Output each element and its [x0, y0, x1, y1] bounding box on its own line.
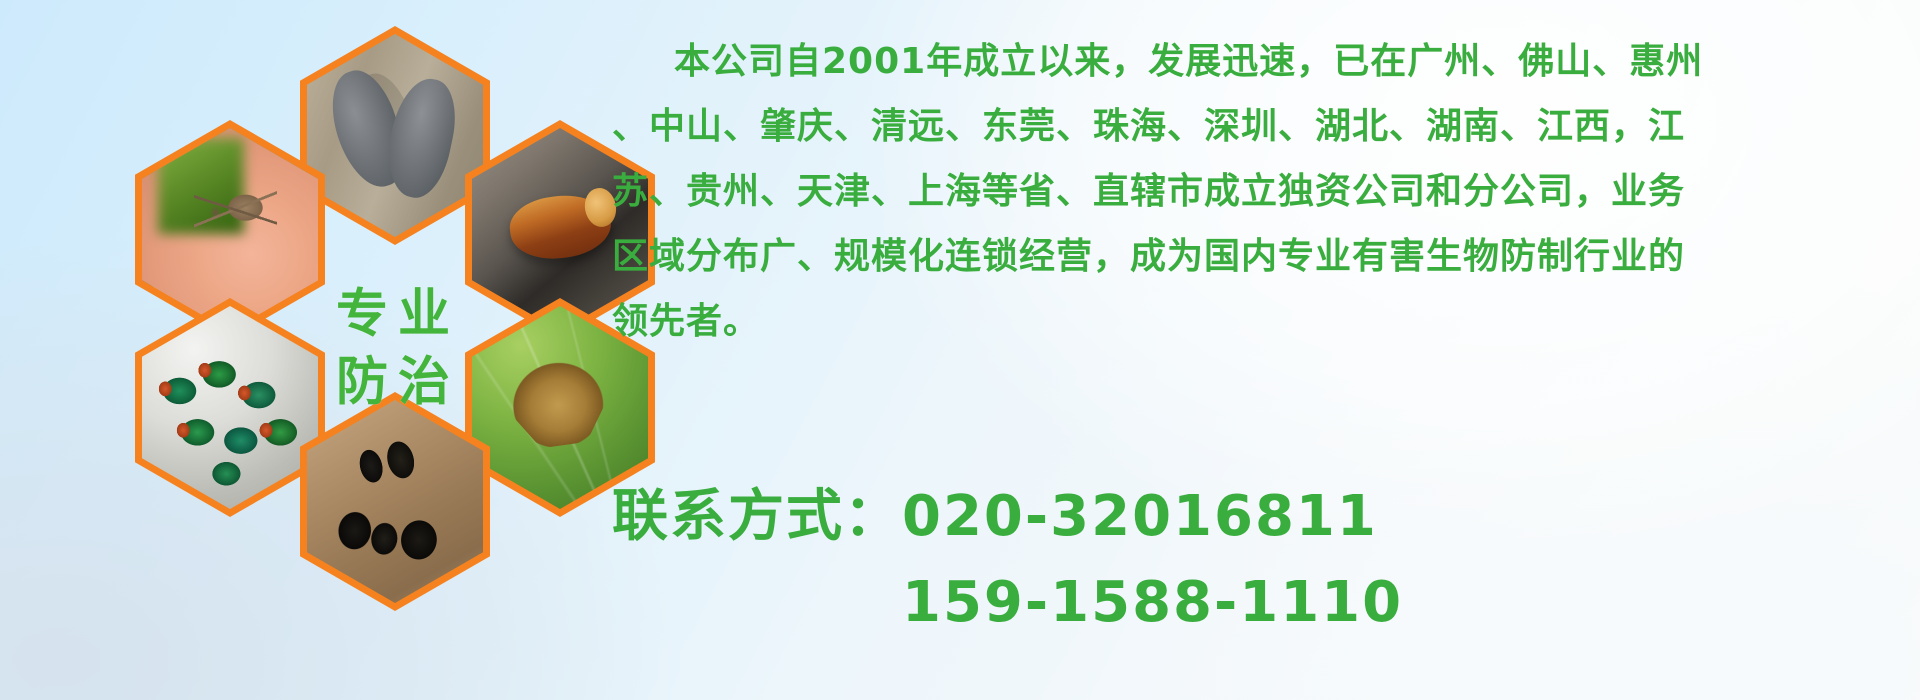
hex-tile-flies[interactable]	[135, 298, 325, 517]
slogan-line-1: 专业	[300, 281, 496, 349]
pest-hexagon-cluster: 专业 防治	[95, 8, 695, 698]
contact-mobile[interactable]: 159-1588-1110	[612, 560, 1884, 646]
description-line-3: 苏、贵州、天津、上海等省、直辖市成立独资公司和分公司，业务	[612, 164, 1884, 220]
hex-tile-slogan: 专业 防治	[300, 236, 496, 462]
description-line-1: 本公司自2001年成立以来，发展迅速，已在广州、佛山、惠州	[612, 34, 1884, 90]
description-line-4: 区域分布广、规模化连锁经营，成为国内专业有害生物防制行业的	[612, 229, 1884, 285]
company-description: 本公司自2001年成立以来，发展迅速，已在广州、佛山、惠州 、中山、肇庆、清远、…	[612, 34, 1884, 359]
description-line-5: 领先者。	[612, 294, 1884, 350]
hex-tile-rats[interactable]	[300, 26, 490, 245]
contact-landline[interactable]: 联系方式：020-32016811	[612, 474, 1884, 560]
slogan-line-2: 防治	[300, 349, 496, 417]
description-line-2: 、中山、肇庆、清远、东莞、珠海、深圳、湖北、湖南、江西，江	[612, 99, 1884, 155]
slogan-text: 专业 防治	[300, 281, 496, 416]
banner-canvas: 专业 防治 本公司自2001年成立以来，发展迅速，已在广州、佛山、惠州 、中山、…	[0, 0, 1920, 700]
contact-block: 联系方式：020-32016811 159-1588-1110	[612, 474, 1884, 646]
